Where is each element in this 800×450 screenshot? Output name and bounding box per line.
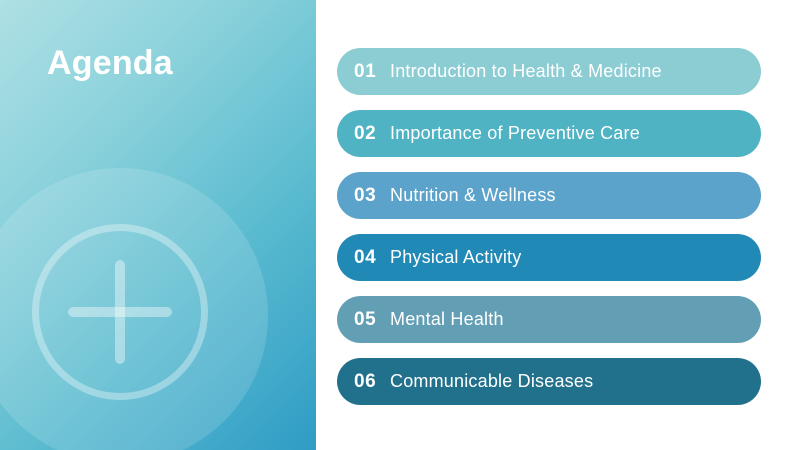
agenda-item-label: Communicable Diseases <box>390 371 593 392</box>
agenda-item-06[interactable]: 06 Communicable Diseases <box>337 358 761 405</box>
agenda-item-label: Importance of Preventive Care <box>390 123 640 144</box>
agenda-item-number: 03 <box>354 185 390 207</box>
agenda-item-number: 04 <box>354 247 390 269</box>
agenda-item-03[interactable]: 03 Nutrition & Wellness <box>337 172 761 219</box>
left-panel: Agenda <box>0 0 316 450</box>
agenda-slide: Agenda 01 Introduction to Health & Medic… <box>0 0 800 450</box>
agenda-item-number: 06 <box>354 371 390 393</box>
plus-vertical-bar <box>115 260 125 364</box>
agenda-item-label: Physical Activity <box>390 247 521 268</box>
medical-plus-icon <box>68 260 172 364</box>
agenda-list: 01 Introduction to Health & Medicine 02 … <box>337 48 761 405</box>
agenda-item-02[interactable]: 02 Importance of Preventive Care <box>337 110 761 157</box>
agenda-item-label: Introduction to Health & Medicine <box>390 61 662 82</box>
agenda-item-04[interactable]: 04 Physical Activity <box>337 234 761 281</box>
agenda-item-01[interactable]: 01 Introduction to Health & Medicine <box>337 48 761 95</box>
agenda-item-number: 05 <box>354 309 390 331</box>
page-title: Agenda <box>47 43 173 84</box>
agenda-item-05[interactable]: 05 Mental Health <box>337 296 761 343</box>
agenda-item-number: 02 <box>354 123 390 145</box>
agenda-item-number: 01 <box>354 61 390 83</box>
agenda-item-label: Nutrition & Wellness <box>390 185 556 206</box>
agenda-item-label: Mental Health <box>390 309 504 330</box>
